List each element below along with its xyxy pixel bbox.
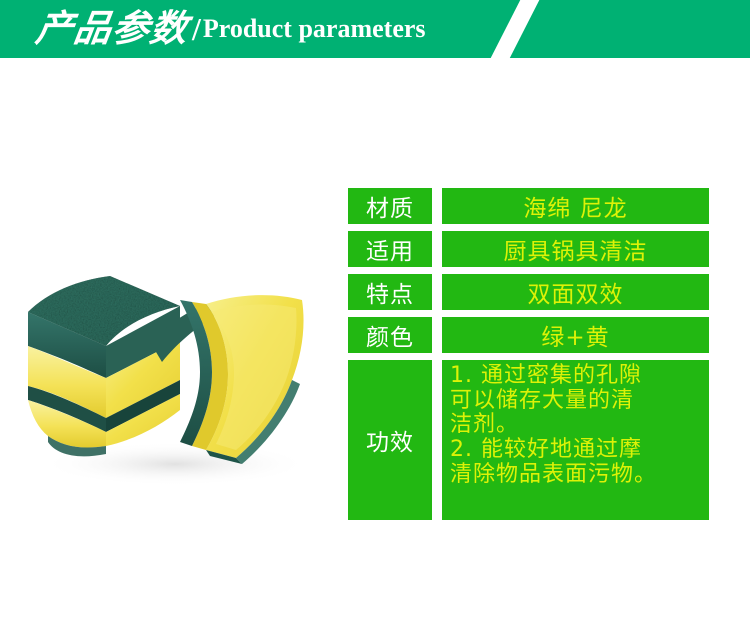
spec-label-application: 适用: [348, 231, 432, 267]
diagonal-slash-decoration: [485, 0, 542, 58]
page-title-english: Product parameters: [203, 16, 426, 42]
product-photo-sponges: [10, 250, 340, 495]
spec-value-effect: 1. 通过密集的孔隙 可以储存大量的清 洁剂。 2. 能较好地通过摩 清除物品表…: [442, 360, 709, 520]
spec-label-color: 颜色: [348, 317, 432, 353]
effect-line: 2. 能较好地通过摩: [450, 438, 709, 463]
effect-line: 可以储存大量的清: [450, 389, 709, 414]
spec-value-feature: 双面双效: [442, 274, 709, 310]
spec-label-effect: 功效: [348, 360, 432, 520]
page-title-chinese: 产品参数: [33, 11, 190, 48]
page-title: 产品参数 / Product parameters: [36, 0, 426, 58]
specification-table: 材质 海绵 尼龙 适用 厨具锅具清洁 特点 双面双效 颜色 绿+黄 功效 1. …: [348, 188, 709, 520]
effect-line-list: 1. 通过密集的孔隙 可以储存大量的清 洁剂。 2. 能较好地通过摩 清除物品表…: [450, 364, 709, 487]
spec-label-material: 材质: [348, 188, 432, 224]
effect-line: 洁剂。: [450, 413, 709, 438]
sponge-left-stack: [28, 276, 180, 456]
spec-value-color: 绿+黄: [442, 317, 709, 353]
table-row: 适用 厨具锅具清洁: [348, 231, 709, 267]
effect-line: 清除物品表面污物。: [450, 463, 709, 488]
title-separator: /: [192, 13, 201, 45]
spec-label-feature: 特点: [348, 274, 432, 310]
spec-value-material: 海绵 尼龙: [442, 188, 709, 224]
table-row: 材质 海绵 尼龙: [348, 188, 709, 224]
page-header-banner: 产品参数 / Product parameters: [0, 0, 750, 58]
effect-line: 1. 通过密集的孔隙: [450, 364, 709, 389]
table-row-effect: 功效 1. 通过密集的孔隙 可以储存大量的清 洁剂。 2. 能较好地通过摩 清除…: [348, 360, 709, 520]
table-row: 特点 双面双效: [348, 274, 709, 310]
spec-value-application: 厨具锅具清洁: [442, 231, 709, 267]
table-row: 颜色 绿+黄: [348, 317, 709, 353]
